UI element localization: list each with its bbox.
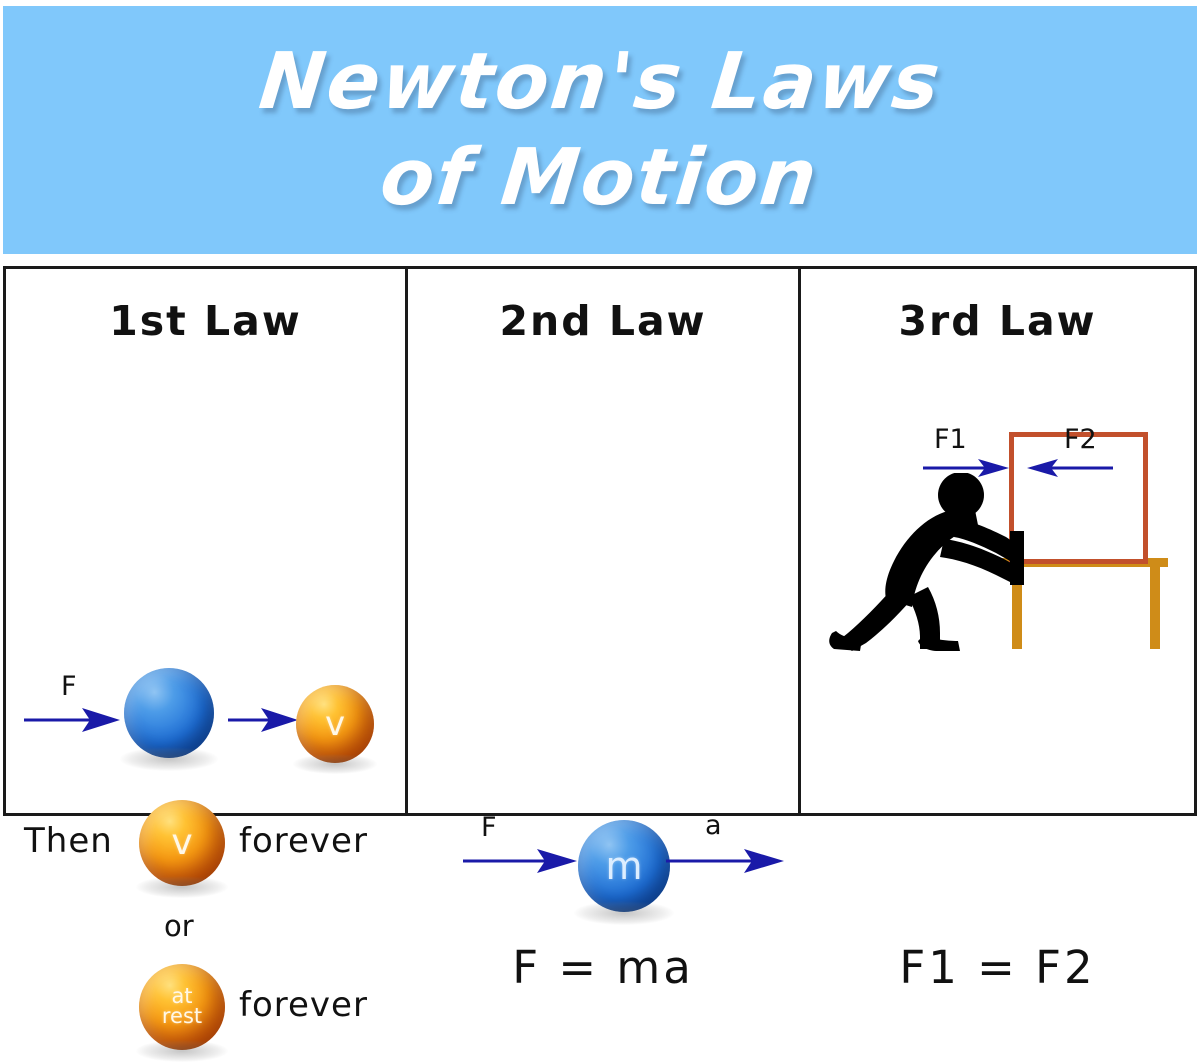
second-law-force-arrow-icon [463,847,581,875]
first-law-at-rest-line-2: rest [162,1004,202,1028]
first-law-at-rest-ball: at rest [139,964,225,1050]
second-law-mass-ball: m [578,820,670,912]
laws-panel-row: 1st Law F v The [3,266,1197,816]
table-leg-right [1150,567,1160,649]
first-law-velocity-ball-row1: v [296,685,374,763]
newtons-laws-poster: Newton's Laws of Motion 1st Law F [0,0,1200,822]
first-law-title: 1st Law [6,297,405,345]
second-law-title: 2nd Law [408,297,798,345]
poster-title-line-1: Newton's Laws [255,43,944,121]
first-law-then-text: Then [24,821,113,861]
poster-title-line-2: of Motion [377,139,822,217]
third-law-force2-arrow-icon [1023,456,1113,480]
first-law-or-text: or [164,909,194,943]
first-law-velocity-ball-row2-label: v [171,826,192,860]
panel-first-law: 1st Law F v The [6,269,408,813]
second-law-force-label: F [481,812,497,843]
first-law-forever-text-row3: forever [239,985,368,1025]
poster-header: Newton's Laws of Motion [3,6,1197,254]
first-law-at-rest-ball-label: at rest [162,987,202,1027]
third-law-force2-label: F2 [1064,424,1097,455]
third-law-force1-arrow-icon [923,456,1011,480]
second-law-acceleration-arrow-icon [666,847,788,875]
first-law-force-label: F [61,671,77,702]
second-law-equation: F = ma [408,941,798,994]
stick-figure-person-icon [828,473,1033,651]
first-law-forever-text-row2: forever [239,821,368,861]
second-law-mass-ball-label: m [605,848,642,884]
first-law-velocity-ball-row2: v [139,800,225,886]
third-law-force1-label: F1 [934,424,967,455]
panel-third-law: 3rd Law [801,269,1194,813]
first-law-blue-ball [124,668,214,758]
second-law-acceleration-label: a [705,810,722,841]
first-law-motion-arrow-icon [228,706,300,734]
first-law-force-arrow-icon [24,706,124,734]
third-law-scene: F1 F2 [801,269,1194,813]
first-law-velocity-ball-row1-label: v [325,708,345,740]
third-law-equation: F1 = F2 [801,941,1194,994]
panel-second-law: 2nd Law F m a F = ma [408,269,801,813]
